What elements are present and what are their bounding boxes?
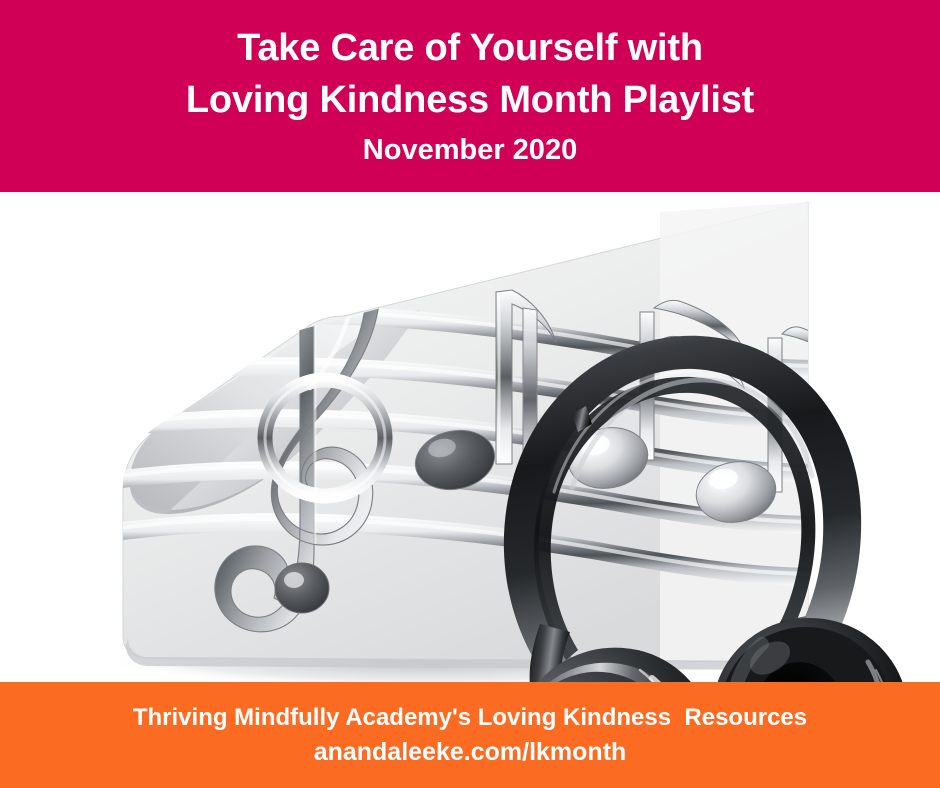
footer-url-text[interactable]: anandaleeke.com/lkmonth — [314, 735, 627, 769]
artwork-stage — [0, 192, 940, 682]
poster-date: November 2020 — [363, 130, 577, 170]
header-banner: Take Care of Yourself with Loving Kindne… — [0, 0, 940, 192]
music-artwork-image — [0, 192, 940, 682]
poster-title-line-1: Take Care of Yourself with — [237, 22, 703, 74]
poster-canvas: Take Care of Yourself with Loving Kindne… — [0, 0, 940, 788]
poster-title-line-2: Loving Kindness Month Playlist — [186, 74, 754, 126]
footer-organization-text: Thriving Mindfully Academy's Loving Kind… — [133, 701, 807, 734]
footer-banner: Thriving Mindfully Academy's Loving Kind… — [0, 682, 940, 788]
